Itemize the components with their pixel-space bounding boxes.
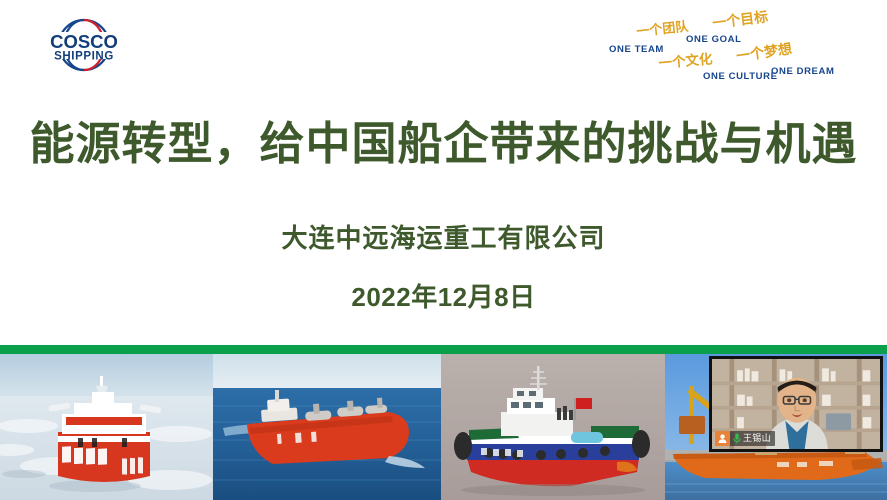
logo-text-shipping: SHIPPING bbox=[54, 51, 114, 63]
slogan-en-one-culture: ONE CULTURE bbox=[703, 71, 778, 82]
green-divider-bar bbox=[0, 345, 887, 354]
photo-panel-tugboat-render bbox=[441, 354, 665, 500]
company-subtitle: 大连中远海运重工有限公司 bbox=[0, 218, 887, 255]
slogan-cn-one-goal: 一个目标 bbox=[711, 8, 769, 31]
person-avatar-icon bbox=[715, 431, 730, 446]
slogan-cn-one-dream: 一个梦想 bbox=[735, 40, 793, 64]
photo-panel-shipyard: 王锡山 bbox=[665, 354, 887, 500]
page-title: 能源转型，给中国船企带来的挑战与机遇 bbox=[0, 118, 887, 170]
presentation-date: 2022年12月8日 bbox=[0, 277, 887, 314]
cosco-shipping-logo: COSCO SHIPPING bbox=[28, 12, 140, 78]
slogan-en-one-team: ONE TEAM bbox=[609, 44, 664, 55]
title-block: 能源转型，给中国船企带来的挑战与机遇 大连中远海运重工有限公司 2022年12月… bbox=[0, 118, 887, 314]
one-team-slogan-mark: 一个团队 ONE TEAM 一个目标 ONE GOAL 一个文化 ONE CUL… bbox=[603, 6, 853, 92]
logo-text-cosco: COSCO bbox=[50, 31, 118, 52]
photo-panel-lng-carrier bbox=[213, 354, 441, 500]
participant-name-badge: 王锡山 bbox=[715, 431, 775, 446]
microphone-icon bbox=[730, 431, 743, 446]
presentation-slide: COSCO SHIPPING 一个团队 ONE TEAM 一个目标 ONE GO… bbox=[0, 0, 887, 500]
slogan-en-one-dream: ONE DREAM bbox=[771, 66, 834, 77]
slogan-cn-one-culture: 一个文化 bbox=[658, 50, 714, 71]
participant-name: 王锡山 bbox=[743, 431, 771, 446]
photo-strip: 王锡山 bbox=[0, 354, 887, 500]
slogan-en-one-goal: ONE GOAL bbox=[686, 34, 741, 45]
photo-panel-icebreaker bbox=[0, 354, 213, 500]
slide-header: COSCO SHIPPING 一个团队 ONE TEAM 一个目标 ONE GO… bbox=[0, 0, 887, 105]
video-call-window[interactable]: 王锡山 bbox=[709, 356, 883, 452]
slogan-cn-one-team: 一个团队 bbox=[636, 19, 690, 39]
